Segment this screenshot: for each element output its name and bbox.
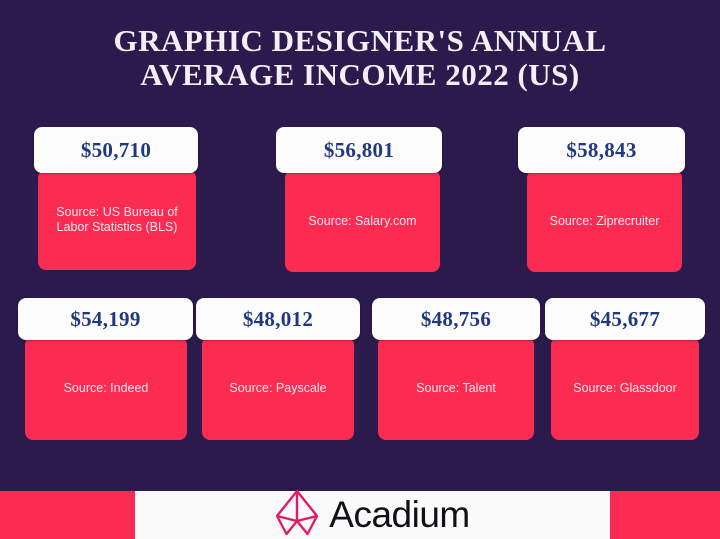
stat-value: $54,199 [70,307,140,332]
stat-value: $50,710 [81,138,151,163]
acadium-logo-icon [275,490,319,539]
stat-source: Source: Indeed [64,381,149,396]
stat-value-box: $54,199 [18,298,193,340]
stat-value: $58,843 [566,138,636,163]
stat-value: $48,756 [421,307,491,332]
stat-body-box: Source: Ziprecruiter [527,170,682,272]
stat-value-box: $50,710 [34,127,198,173]
brand-name: Acadium [329,494,469,536]
stat-body-box: Source: Salary.com [285,170,440,272]
stat-value: $56,801 [324,138,394,163]
stat-source: Source: Glassdoor [573,381,677,396]
stat-value: $48,012 [243,307,313,332]
stat-source: Source: Payscale [229,381,326,396]
stat-body-box: Source: Talent [378,337,534,440]
stat-body-box: Source: Glassdoor [551,337,699,440]
page-title-line-1: Graphic Designer's Annual [0,24,720,58]
stat-value-box: $56,801 [276,127,442,173]
stat-value-box: $45,677 [545,298,705,340]
stat-source: Source: Salary.com [308,214,416,229]
stat-value-box: $48,756 [372,298,540,340]
infographic-canvas: Graphic Designer's Annual Average Income… [0,0,720,539]
stat-value-box: $48,012 [196,298,360,340]
stat-body-box: Source: US Bureau of Labor Statistics (B… [38,170,196,270]
stat-body-box: Source: Payscale [202,337,354,440]
stat-value-box: $58,843 [518,127,685,173]
stat-source: Source: Ziprecruiter [550,214,660,229]
stat-value: $45,677 [590,307,660,332]
brand-panel: Acadium [135,491,610,539]
stat-source: Source: Talent [416,381,496,396]
stat-source: Source: US Bureau of Labor Statistics (B… [46,205,188,235]
footer-bar: Acadium [0,491,720,539]
stat-body-box: Source: Indeed [25,337,187,440]
page-title-line-2: Average Income 2022 (US) [0,58,720,92]
page-title: Graphic Designer's Annual Average Income… [0,24,720,92]
